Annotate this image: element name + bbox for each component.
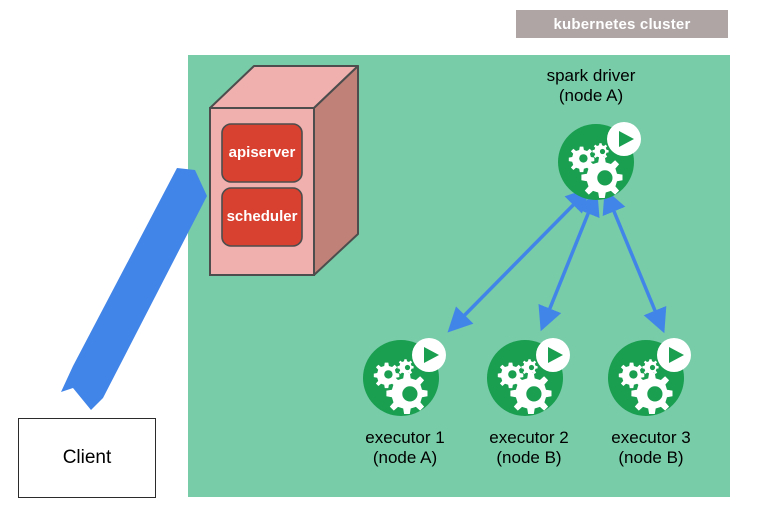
gears-play-icon — [482, 328, 574, 420]
gear-large-icon — [631, 373, 672, 414]
executor-3-subtitle: (node B) — [596, 448, 706, 468]
spark-driver-subtitle: (node A) — [521, 86, 661, 106]
executor-2-node-icon[interactable] — [482, 328, 574, 420]
executor-1-subtitle: (node A) — [350, 448, 460, 468]
client-label: Client — [63, 447, 112, 469]
play-button-icon — [412, 338, 446, 372]
executor-3-caption: executor 3 (node B) — [596, 428, 706, 468]
executor-2-subtitle: (node B) — [474, 448, 584, 468]
spark-driver-title: spark driver — [521, 66, 661, 86]
control-plane-3d-shape — [208, 64, 360, 276]
spark-submit-arrow-shape — [55, 160, 215, 410]
play-button-icon — [657, 338, 691, 372]
spark-submit-arrow — [55, 160, 215, 410]
cluster-badge: kubernetes cluster — [516, 10, 728, 38]
gears-play-icon — [603, 328, 695, 420]
gears-play-icon — [358, 328, 450, 420]
control-plane-box: apiserver scheduler — [208, 64, 360, 276]
gear-large-icon — [386, 373, 427, 414]
spark-driver-node-icon[interactable] — [553, 112, 645, 204]
play-button-icon — [607, 122, 641, 156]
gears-play-icon — [553, 112, 645, 204]
executor-2-caption: executor 2 (node B) — [474, 428, 584, 468]
client-box[interactable]: Client — [18, 418, 156, 498]
executor-1-title: executor 1 — [350, 428, 460, 448]
executor-1-caption: executor 1 (node A) — [350, 428, 460, 468]
executor-2-title: executor 2 — [474, 428, 584, 448]
cluster-badge-label: kubernetes cluster — [554, 16, 691, 33]
executor-3-node-icon[interactable] — [603, 328, 695, 420]
spark-driver-caption: spark driver (node A) — [521, 66, 661, 106]
gear-large-icon — [510, 373, 551, 414]
gear-large-icon — [581, 157, 622, 198]
executor-3-title: executor 3 — [596, 428, 706, 448]
executor-1-node-icon[interactable] — [358, 328, 450, 420]
play-button-icon — [536, 338, 570, 372]
